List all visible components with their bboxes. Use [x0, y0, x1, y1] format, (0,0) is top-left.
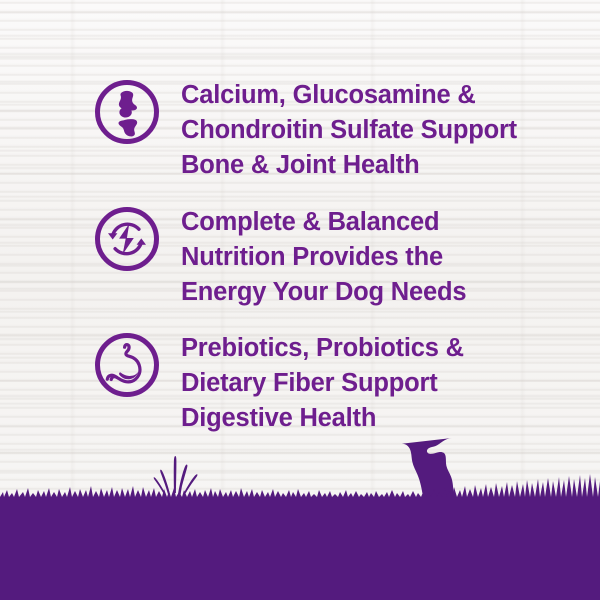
scenery-silhouette [0, 425, 600, 600]
benefit-item-digestive: Prebiotics, Probiotics & Dietary Fiber S… [93, 331, 464, 436]
benefit-item-energy: Complete & Balanced Nutrition Provides t… [93, 205, 466, 310]
benefit-text: Calcium, Glucosamine & Chondroitin Sulfa… [181, 78, 517, 183]
benefit-text: Complete & Balanced Nutrition Provides t… [181, 205, 466, 310]
benefit-text: Prebiotics, Probiotics & Dietary Fiber S… [181, 331, 464, 436]
stomach-digestive-icon [93, 331, 161, 399]
tall-grass-tuft [154, 456, 198, 495]
promo-panel: Calcium, Glucosamine & Chondroitin Sulfa… [0, 0, 600, 600]
bone-joint-vertebrae-icon [93, 78, 161, 146]
energy-cycle-lightning-icon [93, 205, 161, 273]
benefit-item-bone-joint: Calcium, Glucosamine & Chondroitin Sulfa… [93, 78, 517, 183]
grassy-hill-silhouette [0, 470, 600, 600]
